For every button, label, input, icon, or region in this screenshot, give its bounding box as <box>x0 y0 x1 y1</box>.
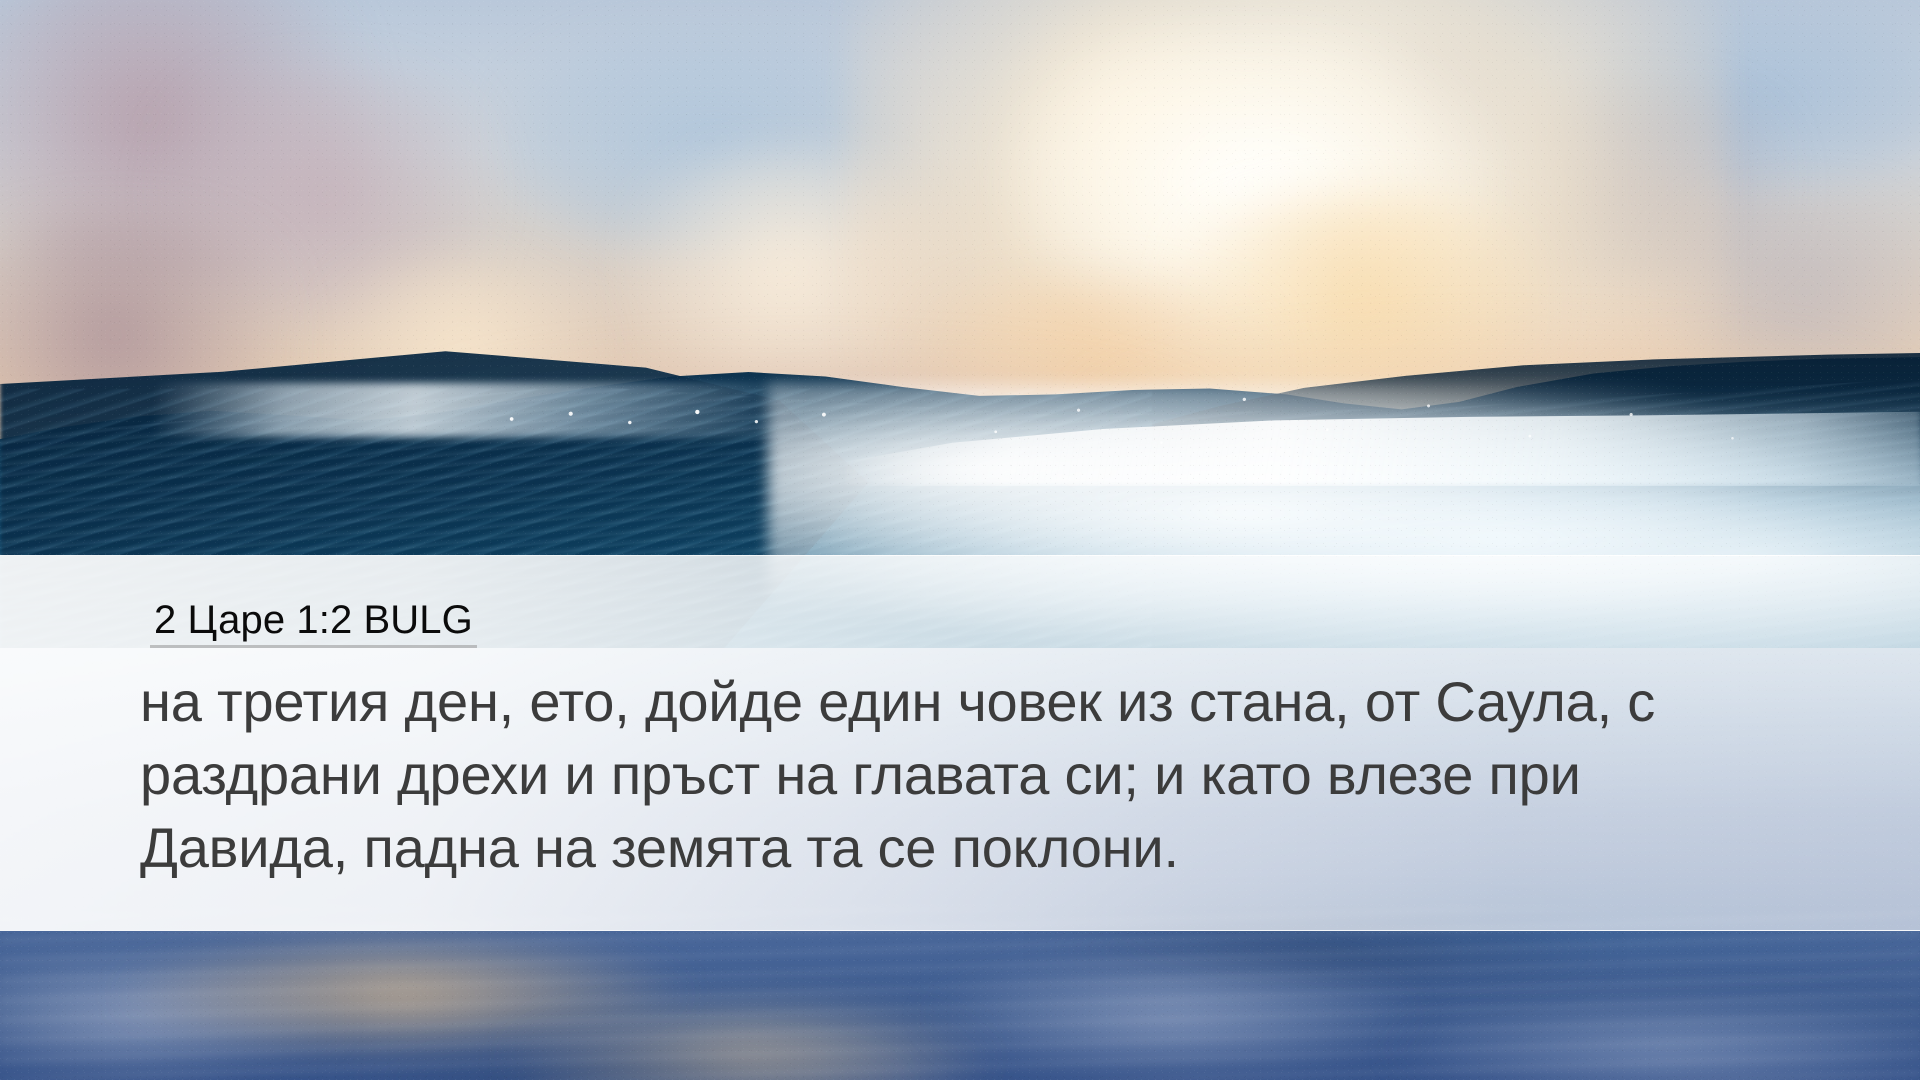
wave-spray-droplets <box>922 367 1844 475</box>
verse-reference: 2 Царе 1:2 BULG <box>150 600 477 648</box>
verse-overlay-band: 2 Царе 1:2 BULG на третия ден, ето, дойд… <box>0 556 1920 930</box>
verse-image-canvas: 2 Царе 1:2 BULG на третия ден, ето, дойд… <box>0 0 1920 1080</box>
verse-reference-wrap: 2 Царе 1:2 BULG <box>150 600 477 648</box>
verse-text: на третия ден, ето, дойде един човек из … <box>140 666 1760 884</box>
reflection-ripple-rows <box>0 907 1920 1080</box>
wave-foam-beads-left <box>461 397 883 440</box>
